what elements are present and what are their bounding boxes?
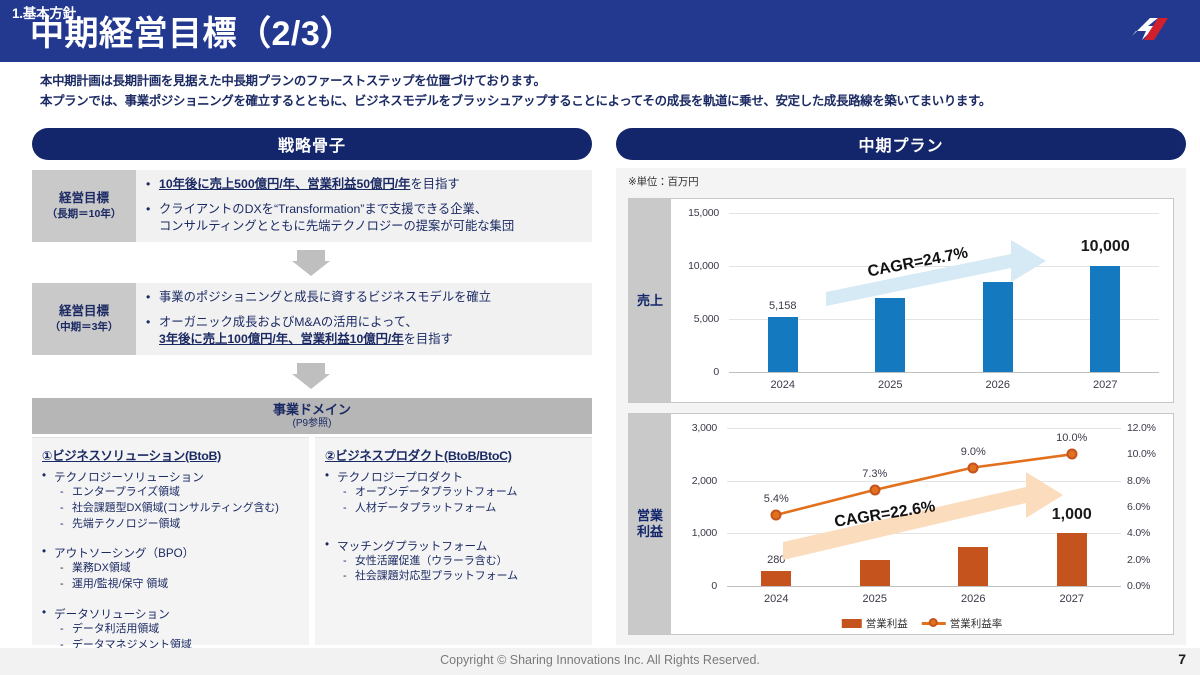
page-title: 中期経営目標（2/3） (30, 16, 355, 53)
domain-title: 事業ドメイン (273, 403, 351, 418)
profit-chart-side-label: 営業 利益 (629, 414, 671, 634)
bullet-item: • クライアントのDXを“Transformation”まで支援できる企業、 コ… (146, 201, 584, 236)
domain-item: -運用/監視/保守 領域 (60, 577, 301, 593)
bar (958, 547, 988, 587)
goal-row-longterm: 経営目標 （長期＝10年） • 10年後に売上500億円/年、営業利益50億円/… (32, 170, 592, 242)
bar (860, 560, 890, 586)
panel-header-strategy: 戦略骨子 (32, 128, 592, 160)
gridline (727, 481, 1121, 482)
bullet-rest: クライアントのDXを“Transformation”まで支援できる企業、 コンサ… (159, 201, 584, 236)
domain-column-title: ②ビジネスプロダクト(BtoB/BtoC) (325, 446, 584, 464)
domain-columns: ①ビジネスソリューション(BtoB) •テクノロジーソリューション -エンタープ… (32, 437, 592, 645)
goal-body-midterm: • 事業のポジショニングと成長に資するビジネスモデルを確立 • オーガニック成長… (136, 283, 592, 355)
y2-axis-tick-label: 6.0% (1127, 501, 1171, 513)
domain-column-business-solution: ①ビジネスソリューション(BtoB) •テクノロジーソリューション -エンタープ… (32, 437, 309, 645)
bullet-rest: 事業のポジショニングと成長に資するビジネスモデルを確立 (159, 289, 584, 306)
domain-item: -業務DX領域 (60, 561, 301, 577)
domain-item: -人材データプラットフォーム (343, 501, 584, 517)
slide-root: 1.基本方針 中期経営目標（2/3） 本中期計画は長期計画を見据えた中長期プラン… (0, 0, 1200, 675)
bullet-dot-icon: • (146, 289, 159, 306)
bar (983, 282, 1013, 372)
bar (1057, 533, 1087, 586)
bullet-dot-icon: • (146, 176, 159, 193)
sales-chart-plot: 05,00010,00015,0005,15820242025202610,00… (671, 199, 1173, 402)
goal-label-sub: （中期＝3年） (50, 320, 119, 334)
flow-arrow-stem (297, 363, 325, 374)
goal-label-midterm: 経営目標 （中期＝3年） (32, 283, 136, 355)
legend-bar-swatch (842, 619, 862, 628)
goal-row-midterm: 経営目標 （中期＝3年） • 事業のポジショニングと成長に資するビジネスモデルを… (32, 283, 592, 355)
x-axis-tick-label: 2027 (1060, 593, 1084, 605)
domain-item: -女性活躍促進（ウラーラ含む） (343, 554, 584, 570)
bullet-dot-icon: • (325, 538, 337, 554)
bar (875, 298, 905, 372)
sharing-innovations-logo-icon (1124, 14, 1178, 44)
operating-margin-line (671, 414, 1173, 634)
page-number: 7 (1178, 651, 1186, 667)
line-data-point (869, 484, 880, 495)
domain-item: -先端テクノロジー領域 (60, 517, 301, 533)
sales-chart: 売上 05,00010,00015,0005,15820242025202610… (628, 198, 1174, 403)
x-axis-tick-label: 2024 (764, 593, 788, 605)
domain-group-head: •マッチングプラットフォーム (325, 538, 584, 554)
domain-group-head: •アウトソーシング（BPO） (42, 545, 301, 561)
legend-item-bar: 営業利益 (842, 616, 908, 631)
gridline (729, 372, 1159, 373)
legend-line-label: 営業利益率 (950, 616, 1003, 631)
dash-icon: - (343, 569, 355, 585)
dash-icon: - (343, 554, 355, 570)
y2-axis-tick-label: 2.0% (1127, 554, 1171, 566)
bullet-dot-icon: • (146, 201, 159, 236)
x-axis-tick-label: 2025 (878, 379, 902, 391)
legend-line-swatch (922, 622, 946, 625)
x-axis-tick-label: 2024 (771, 379, 795, 391)
cagr-annotation: CAGR=24.7% (866, 244, 969, 281)
line-data-point (1066, 449, 1077, 460)
dash-icon: - (60, 622, 72, 638)
operating-profit-chart-plot: 01,0002,0003,0000.0%2.0%4.0%6.0%8.0%10.0… (671, 414, 1173, 634)
legend-item-line: 営業利益率 (922, 616, 1003, 631)
line-value-label: 9.0% (961, 446, 986, 458)
domain-item: -社会課題対応型プラットフォーム (343, 569, 584, 585)
bullet-dot-icon: • (42, 606, 54, 622)
domain-item: -社会課題型DX領域(コンサルティング含む) (60, 501, 301, 517)
dash-icon: - (343, 501, 355, 517)
operating-profit-chart: 営業 利益 01,0002,0003,0000.0%2.0%4.0%6.0%8.… (628, 413, 1174, 635)
subtitle-line-1: 本中期計画は長期計画を見据えた中長期プランのファーストステップを位置づけておりま… (40, 72, 1070, 92)
y-axis-tick-label: 0 (671, 366, 723, 378)
cagr-annotation: CAGR=22.6% (833, 498, 936, 532)
cagr-arrow-icon (671, 414, 1173, 634)
dash-icon: - (60, 577, 72, 593)
line-value-label: 10.0% (1056, 432, 1087, 444)
domain-item: -データ利活用領域 (60, 622, 301, 638)
line-value-label: 7.3% (862, 468, 887, 480)
y-axis-tick-label: 3,000 (671, 422, 721, 434)
bullet-rest: を目指す (410, 177, 459, 191)
goal-label-main: 経営目標 (59, 190, 109, 207)
domain-item: -オープンデータプラットフォーム (343, 485, 584, 501)
y2-axis-tick-label: 0.0% (1127, 580, 1171, 592)
flow-arrow-down-icon (292, 261, 330, 276)
dash-icon: - (60, 517, 72, 533)
dash-icon: - (343, 485, 355, 501)
y-axis-tick-label: 5,000 (671, 313, 723, 325)
bar-value-label: 5,158 (769, 300, 797, 312)
bar (761, 571, 791, 586)
x-axis-tick-label: 2026 (961, 593, 985, 605)
domain-group-head: •データソリューション (42, 606, 301, 622)
line-data-point (968, 462, 979, 473)
bullet-dot-icon: • (42, 545, 54, 561)
bar-value-label: 280 (767, 554, 785, 566)
panel-header-midterm-plan: 中期プラン (616, 128, 1186, 160)
goal-label-longterm: 経営目標 （長期＝10年） (32, 170, 136, 242)
unit-note: ※単位：百万円 (628, 174, 698, 189)
gridline (727, 586, 1121, 587)
y-axis-tick-label: 0 (671, 580, 721, 592)
y-axis-tick-label: 1,000 (671, 527, 721, 539)
y-axis-tick-label: 10,000 (671, 260, 723, 272)
bullet-dot-icon: • (325, 469, 337, 485)
y-axis-tick-label: 2,000 (671, 475, 721, 487)
bullet-item: • 10年後に売上500億円/年、営業利益50億円/年を目指す (146, 176, 584, 193)
domain-group-head: •テクノロジーソリューション (42, 469, 301, 485)
domain-column-business-product: ②ビジネスプロダクト(BtoB/BtoC) •テクノロジープロダクト -オープン… (315, 437, 592, 645)
midterm-plan-panel: ※単位：百万円 売上 05,00010,00015,0005,158202420… (616, 168, 1186, 645)
gridline (729, 213, 1159, 214)
flow-arrow-down-icon (292, 374, 330, 389)
domain-item: -エンタープライズ領域 (60, 485, 301, 501)
y2-axis-tick-label: 12.0% (1127, 422, 1171, 434)
goal-body-longterm: • 10年後に売上500億円/年、営業利益50億円/年を目指す • クライアント… (136, 170, 592, 242)
line-value-label: 5.4% (764, 493, 789, 505)
footer-copyright: Copyright © Sharing Innovations Inc. All… (0, 653, 1200, 667)
bar (768, 317, 798, 372)
domain-header: 事業ドメイン (P9参照) (32, 398, 592, 434)
bullet-strong: 3年後に売上100億円/年、営業利益10億円/年 (159, 332, 404, 346)
bullet-item: • 事業のポジショニングと成長に資するビジネスモデルを確立 (146, 289, 584, 306)
bar-value-label: 1,000 (1052, 506, 1092, 524)
domain-group-head: •テクノロジープロダクト (325, 469, 584, 485)
slide-subtitle: 本中期計画は長期計画を見据えた中長期プランのファーストステップを位置づけておりま… (40, 72, 1070, 111)
gridline (727, 428, 1121, 429)
sales-chart-side-label: 売上 (629, 199, 671, 402)
bullet-item: • オーガニック成長およびM&Aの活用によって、 3年後に売上100億円/年、営… (146, 314, 584, 349)
subtitle-line-2: 本プランでは、事業ポジショニングを確立するとともに、ビジネスモデルをブラッシュア… (40, 92, 1070, 112)
chart-legend: 営業利益営業利益率 (842, 616, 1003, 631)
domain-subtitle: (P9参照) (293, 418, 332, 430)
goal-label-main: 経営目標 (59, 303, 109, 320)
bullet-rest-2: を目指す (404, 332, 453, 346)
bar-value-label: 10,000 (1081, 238, 1130, 256)
x-axis-tick-label: 2025 (863, 593, 887, 605)
x-axis-tick-label: 2026 (986, 379, 1010, 391)
dash-icon: - (60, 501, 72, 517)
legend-bar-label: 営業利益 (866, 616, 908, 631)
bullet-dot-icon: • (146, 314, 159, 349)
dash-icon: - (60, 561, 72, 577)
y2-axis-tick-label: 10.0% (1127, 448, 1171, 460)
line-data-point (771, 509, 782, 520)
goal-label-sub: （長期＝10年） (47, 207, 122, 221)
slide-header: 1.基本方針 中期経営目標（2/3） (0, 0, 1200, 62)
bar (1090, 266, 1120, 372)
x-axis-tick-label: 2027 (1093, 379, 1117, 391)
y2-axis-tick-label: 8.0% (1127, 475, 1171, 487)
bullet-strong: 10年後に売上500億円/年、営業利益50億円/年 (159, 177, 410, 191)
dash-icon: - (60, 485, 72, 501)
y2-axis-tick-label: 4.0% (1127, 527, 1171, 539)
bullet-dot-icon: • (42, 469, 54, 485)
y-axis-tick-label: 15,000 (671, 207, 723, 219)
flow-arrow-stem (297, 250, 325, 261)
domain-column-title: ①ビジネスソリューション(BtoB) (42, 446, 301, 464)
bullet-rest: オーガニック成長およびM&Aの活用によって、 (159, 315, 418, 329)
